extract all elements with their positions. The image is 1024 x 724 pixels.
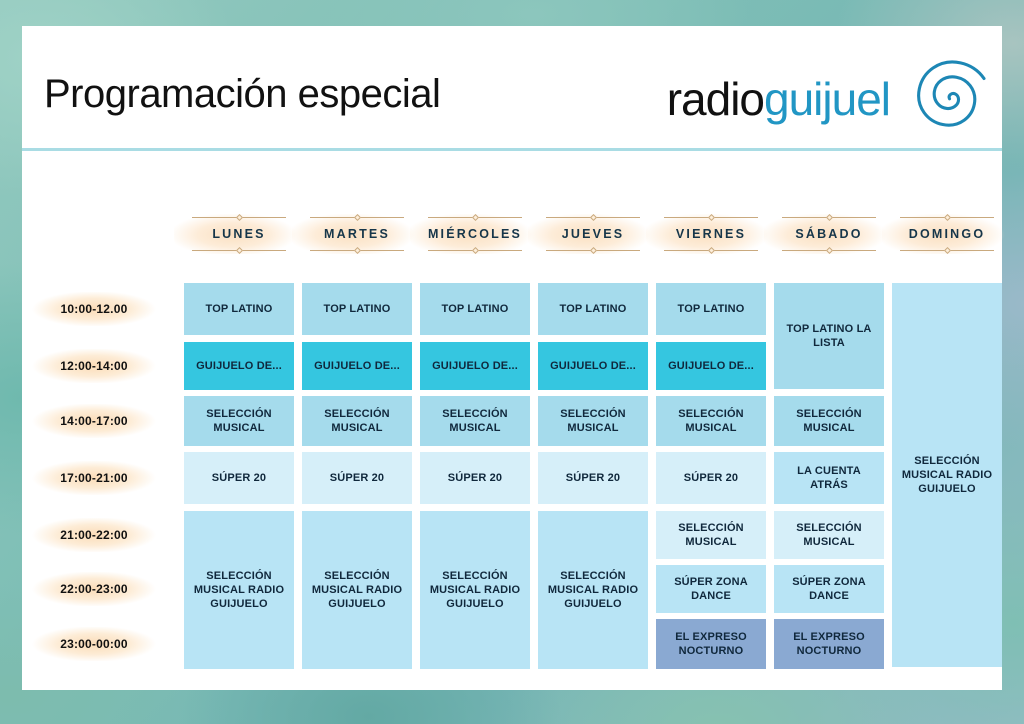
program-cell[interactable]: SÚPER 20 — [420, 452, 530, 504]
day-header-miércoles: MIÉRCOLES — [416, 212, 534, 256]
program-cell[interactable]: TOP LATINO — [420, 283, 530, 335]
day-header-label: LUNES — [212, 227, 265, 241]
page-title: Programación especial — [44, 72, 440, 117]
program-cell[interactable]: SELECCIÓN MUSICAL — [656, 396, 766, 446]
program-cell[interactable]: SELECCIÓN MUSICAL RADIO GUIJUELO — [302, 511, 412, 669]
program-cell-label: SELECCIÓN MUSICAL — [780, 521, 878, 549]
program-cell[interactable]: TOP LATINO — [656, 283, 766, 335]
time-slot-label: 10:00-12.00 — [61, 302, 128, 316]
day-header-jueves: JUEVES — [534, 212, 652, 256]
program-cell[interactable]: SÚPER 20 — [656, 452, 766, 504]
time-slot-4: 21:00-22:00 — [32, 511, 156, 559]
program-cell-label: SÚPER 20 — [330, 471, 384, 485]
day-header-label: VIERNES — [676, 227, 746, 241]
day-header-domingo: DOMINGO — [888, 212, 1006, 256]
program-cell[interactable]: GUIJUELO DE... — [538, 342, 648, 390]
program-cell-label: SÚPER ZONA DANCE — [780, 575, 878, 603]
program-cell[interactable]: TOP LATINO LA LISTA — [774, 283, 884, 389]
program-cell-label: GUIJUELO DE... — [668, 359, 754, 373]
program-cell-label: SÚPER 20 — [212, 471, 266, 485]
program-cell[interactable]: SÚPER ZONA DANCE — [656, 565, 766, 613]
program-cell-label: GUIJUELO DE... — [196, 359, 282, 373]
program-cell[interactable]: SELECCIÓN MUSICAL RADIO GUIJUELO — [538, 511, 648, 669]
program-cell-label: SELECCIÓN MUSICAL RADIO GUIJUELO — [898, 454, 996, 496]
program-cell-label: SÚPER 20 — [684, 471, 738, 485]
logo-radio-text: radio — [667, 73, 764, 125]
program-cell[interactable]: TOP LATINO — [538, 283, 648, 335]
day-header-label: DOMINGO — [909, 227, 986, 241]
time-slot-label: 23:00-00:00 — [60, 637, 128, 651]
radio-guijuelo-logo: radioguijuel — [667, 60, 996, 138]
program-cell-label: GUIJUELO DE... — [314, 359, 400, 373]
program-cell-label: TOP LATINO — [206, 302, 273, 316]
program-cell[interactable]: SELECCIÓN MUSICAL — [774, 511, 884, 559]
program-cell-label: SELECCIÓN MUSICAL — [544, 407, 642, 435]
day-header-viernes: VIERNES — [652, 212, 770, 256]
program-cell[interactable]: SELECCIÓN MUSICAL — [302, 396, 412, 446]
day-header-martes: MARTES — [298, 212, 416, 256]
program-cell-label: SELECCIÓN MUSICAL — [426, 407, 524, 435]
program-cell-label: SELECCIÓN MUSICAL — [662, 407, 760, 435]
program-cell[interactable]: SELECCIÓN MUSICAL — [184, 396, 294, 446]
program-cell[interactable]: EL EXPRESO NOCTURNO — [774, 619, 884, 669]
day-header-lunes: LUNES — [180, 212, 298, 256]
day-header-label: MARTES — [324, 227, 390, 241]
program-cell[interactable]: TOP LATINO — [184, 283, 294, 335]
program-cell[interactable]: SÚPER 20 — [538, 452, 648, 504]
logo-wordmark: radioguijuel — [667, 76, 890, 122]
day-header-sábado: SÁBADO — [770, 212, 888, 256]
program-cell-label: TOP LATINO — [560, 302, 627, 316]
program-cell-label: GUIJUELO DE... — [550, 359, 636, 373]
program-cell-label: SELECCIÓN MUSICAL — [780, 407, 878, 435]
program-cell[interactable]: GUIJUELO DE... — [302, 342, 412, 390]
program-cell-label: TOP LATINO — [442, 302, 509, 316]
day-header-label: SÁBADO — [795, 227, 862, 241]
program-cell-label: SELECCIÓN MUSICAL RADIO GUIJUELO — [544, 569, 642, 611]
program-cell-label: SELECCIÓN MUSICAL — [190, 407, 288, 435]
time-slot-6: 23:00-00:00 — [32, 619, 156, 669]
program-cell-label: SELECCIÓN MUSICAL RADIO GUIJUELO — [308, 569, 406, 611]
time-slot-2: 14:00-17:00 — [32, 396, 156, 446]
time-slot-5: 22:00-23:00 — [32, 565, 156, 613]
program-cell[interactable]: GUIJUELO DE... — [420, 342, 530, 390]
program-cell-label: SÚPER 20 — [566, 471, 620, 485]
time-slot-label: 21:00-22:00 — [60, 528, 128, 542]
program-cell[interactable]: SÚPER 20 — [184, 452, 294, 504]
program-cell-label: SELECCIÓN MUSICAL RADIO GUIJUELO — [426, 569, 524, 611]
program-cell[interactable]: GUIJUELO DE... — [656, 342, 766, 390]
program-cell[interactable]: SELECCIÓN MUSICAL — [538, 396, 648, 446]
program-cell[interactable]: LA CUENTA ATRÁS — [774, 452, 884, 504]
spiral-icon — [892, 60, 996, 138]
program-cell-label: SELECCIÓN MUSICAL — [662, 521, 760, 549]
program-cell-label: LA CUENTA ATRÁS — [780, 464, 878, 492]
program-cell[interactable]: SELECCIÓN MUSICAL — [656, 511, 766, 559]
day-header-label: JUEVES — [562, 227, 625, 241]
program-cell-label: SÚPER ZONA DANCE — [662, 575, 760, 603]
program-cell-label: TOP LATINO — [678, 302, 745, 316]
time-slot-label: 17:00-21:00 — [60, 471, 128, 485]
program-cell-label: TOP LATINO LA LISTA — [780, 322, 878, 350]
schedule-card: Programación especial radioguijuel LUNES… — [22, 26, 1002, 690]
time-slot-0: 10:00-12.00 — [32, 283, 156, 335]
day-header-row: LUNESMARTESMIÉRCOLESJUEVESVIERNESSÁBADOD… — [22, 212, 1002, 256]
logo-guijuel-text: guijuel — [764, 73, 890, 125]
time-slot-label: 22:00-23:00 — [60, 582, 128, 596]
program-cell[interactable]: SELECCIÓN MUSICAL RADIO GUIJUELO — [892, 283, 1002, 667]
time-slot-1: 12:00-14:00 — [32, 342, 156, 390]
program-cell[interactable]: GUIJUELO DE... — [184, 342, 294, 390]
program-cell-label: EL EXPRESO NOCTURNO — [780, 630, 878, 658]
program-cell[interactable]: SELECCIÓN MUSICAL — [420, 396, 530, 446]
program-cell[interactable]: TOP LATINO — [302, 283, 412, 335]
watercolor-backdrop: Programación especial radioguijuel LUNES… — [0, 0, 1024, 724]
program-cell[interactable]: SELECCIÓN MUSICAL — [774, 396, 884, 446]
program-cell[interactable]: SELECCIÓN MUSICAL RADIO GUIJUELO — [420, 511, 530, 669]
program-cell[interactable]: EL EXPRESO NOCTURNO — [656, 619, 766, 669]
time-slot-label: 14:00-17:00 — [60, 414, 128, 428]
program-cell[interactable]: SÚPER ZONA DANCE — [774, 565, 884, 613]
program-cell[interactable]: SELECCIÓN MUSICAL RADIO GUIJUELO — [184, 511, 294, 669]
time-slot-3: 17:00-21:00 — [32, 452, 156, 504]
program-cell-label: GUIJUELO DE... — [432, 359, 518, 373]
program-cell-label: SELECCIÓN MUSICAL RADIO GUIJUELO — [190, 569, 288, 611]
day-header-label: MIÉRCOLES — [428, 227, 522, 241]
program-cell[interactable]: SÚPER 20 — [302, 452, 412, 504]
header-divider — [22, 148, 1002, 151]
time-slot-label: 12:00-14:00 — [60, 359, 128, 373]
program-cell-label: EL EXPRESO NOCTURNO — [662, 630, 760, 658]
program-cell-label: TOP LATINO — [324, 302, 391, 316]
header: Programación especial radioguijuel — [22, 26, 1002, 148]
program-cell-label: SELECCIÓN MUSICAL — [308, 407, 406, 435]
schedule-grid: LUNESMARTESMIÉRCOLESJUEVESVIERNESSÁBADOD… — [22, 156, 1002, 690]
program-cell-label: SÚPER 20 — [448, 471, 502, 485]
